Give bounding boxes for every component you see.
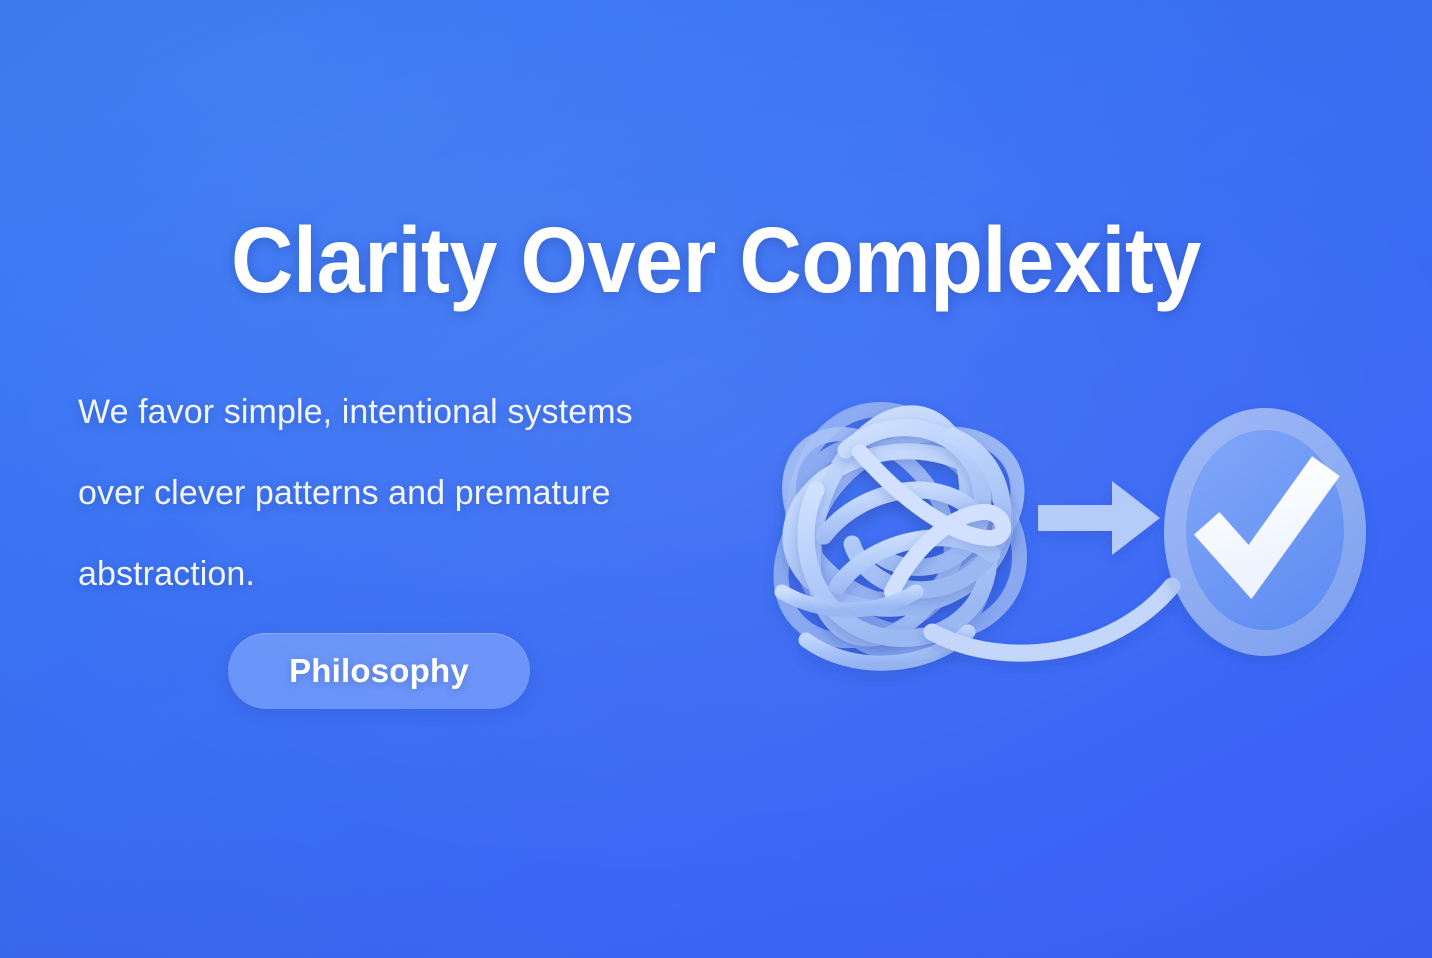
slide-canvas: Clarity Over Complexity We favor simple,…	[0, 0, 1432, 958]
illustration-tangle-to-check	[720, 340, 1420, 730]
page-title: Clarity Over Complexity	[50, 212, 1382, 310]
philosophy-badge-label: Philosophy	[289, 652, 469, 690]
body-line-2: over clever patterns and premature	[78, 453, 718, 534]
philosophy-badge[interactable]: Philosophy	[228, 633, 530, 709]
arrow-right-icon	[1038, 481, 1160, 555]
check-circle-icon	[1164, 408, 1366, 656]
body-line-1: We favor simple, intentional systems	[78, 372, 718, 453]
body-line-3: abstraction.	[78, 534, 718, 615]
body-copy: We favor simple, intentional systems ove…	[78, 372, 718, 615]
tangled-knot-icon	[743, 388, 1052, 679]
